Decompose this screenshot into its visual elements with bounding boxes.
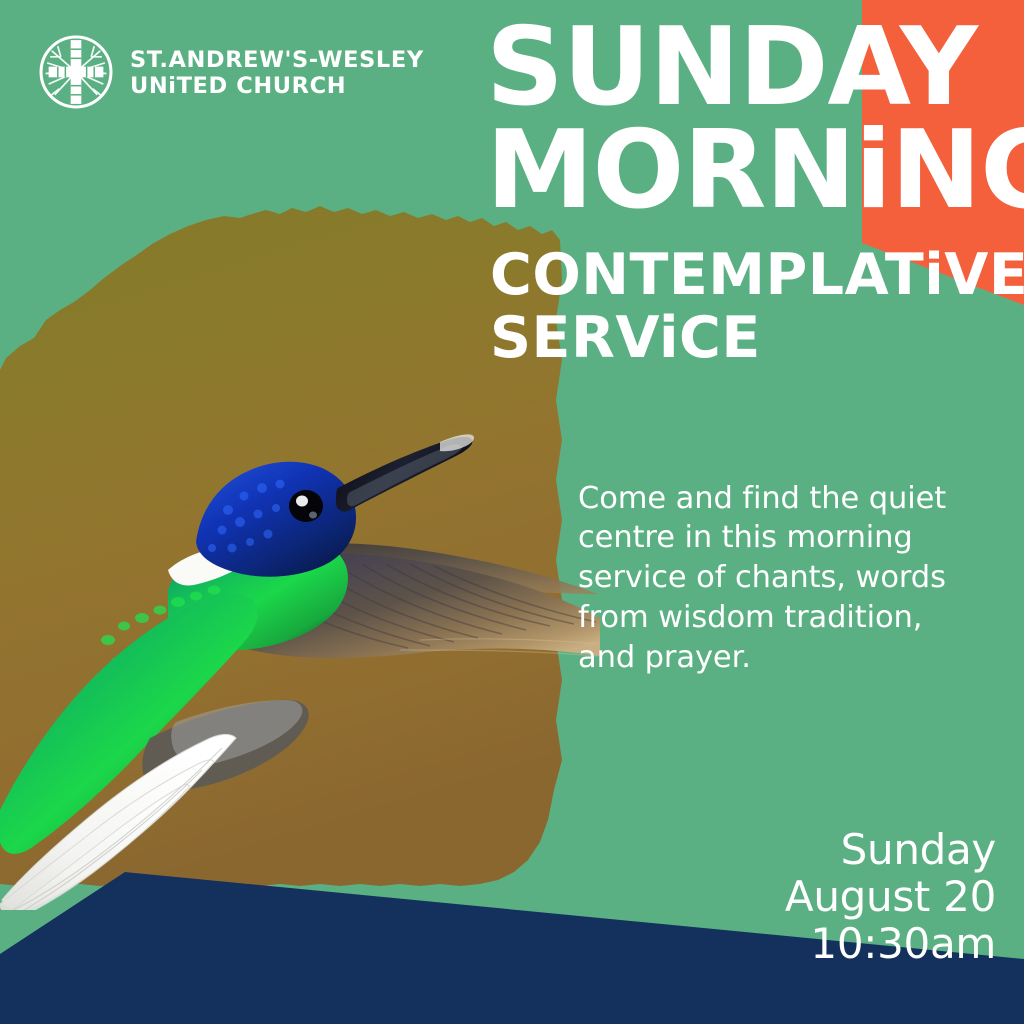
headline-line-2: MORNiNG	[486, 121, 1016, 220]
logo-line-1: ST.ANDREW'S-WESLEY	[130, 47, 424, 73]
schedule-time: 10:30am	[785, 920, 996, 967]
schedule-date: August 20	[785, 873, 996, 920]
subheadline-line-1: CONTEMPLATiVE	[490, 248, 1024, 303]
headline-line-1: SUNDAY	[486, 18, 1016, 117]
logo-wordmark: ST.ANDREW'S-WESLEY UNiTED CHURCH	[130, 45, 424, 99]
body-description: Come and find the quiet centre in this m…	[578, 479, 970, 679]
subheadline: CONTEMPLATiVE SERViCE	[490, 248, 1024, 365]
schedule-block: Sunday August 20 10:30am	[785, 826, 996, 967]
subheadline-line-2: SERViCE	[490, 311, 1024, 366]
headline: SUNDAY MORNiNG	[486, 18, 1016, 221]
celtic-cross-circle-emblem-icon	[38, 34, 114, 110]
poster-canvas: ST.ANDREW'S-WESLEY UNiTED CHURCH SUNDAY …	[0, 0, 1024, 1024]
logo-line-2: UNiTED CHURCH	[130, 73, 424, 99]
church-logo-lockup[interactable]: ST.ANDREW'S-WESLEY UNiTED CHURCH	[38, 34, 424, 110]
schedule-day: Sunday	[785, 826, 996, 873]
